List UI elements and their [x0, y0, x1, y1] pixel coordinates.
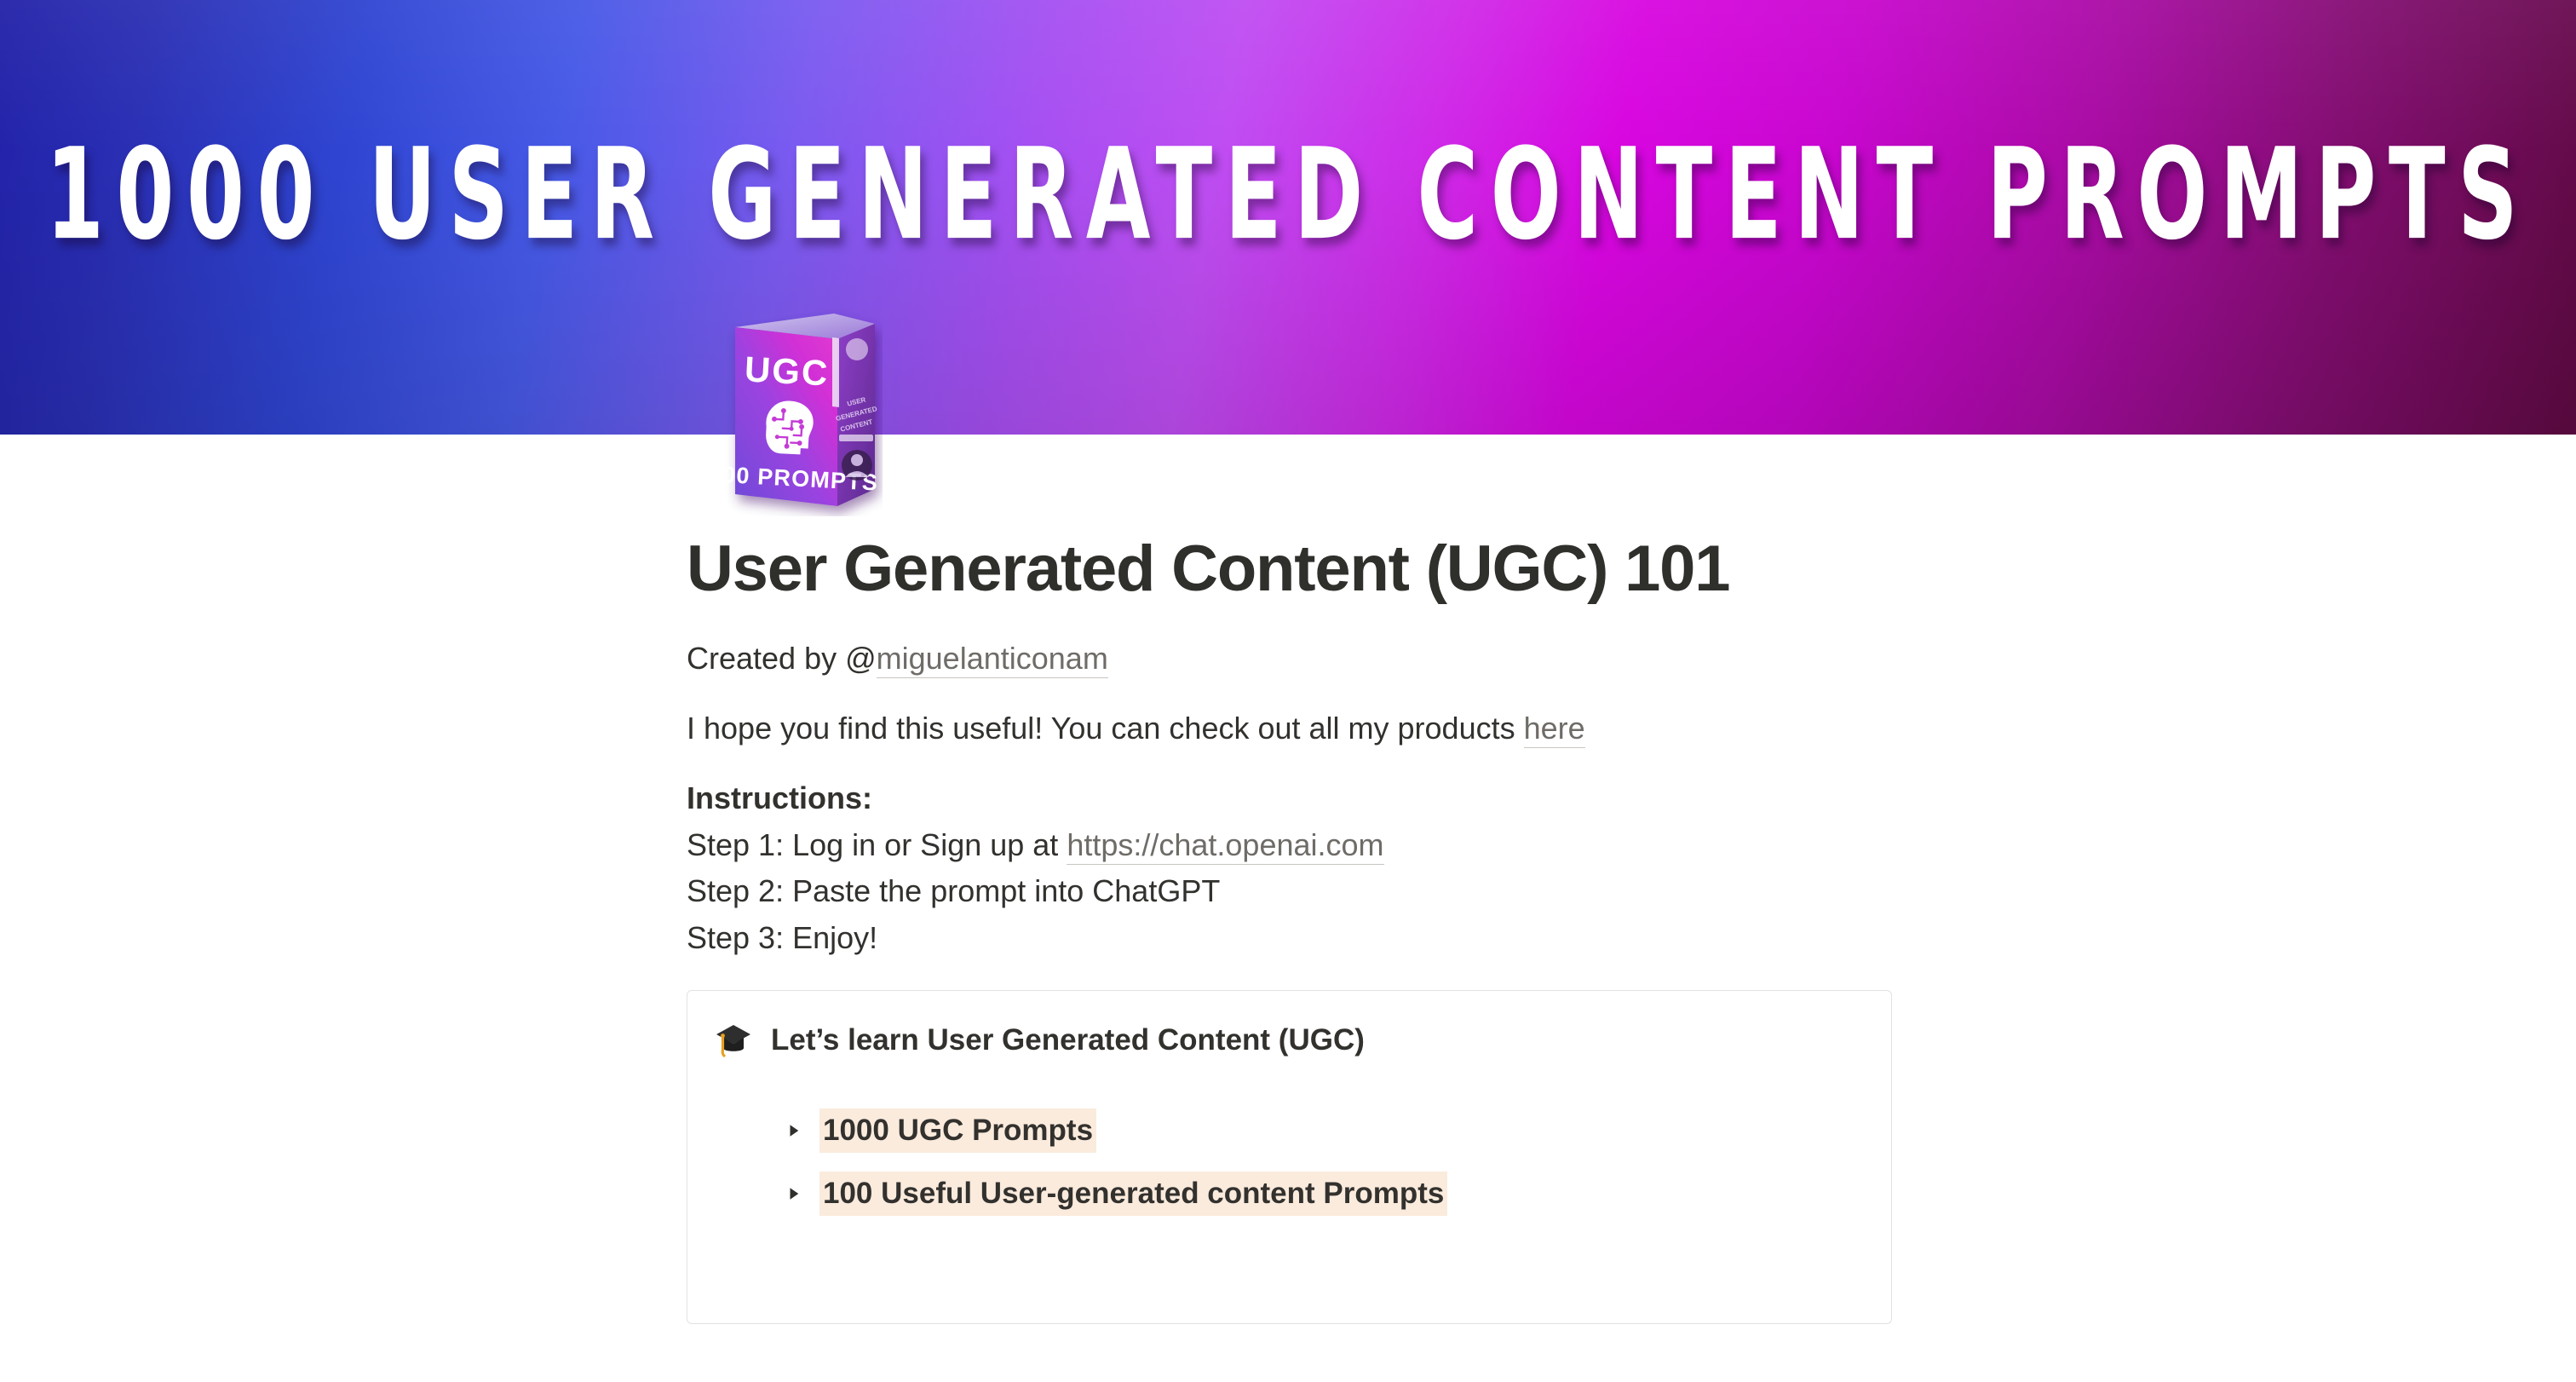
toggle-item-100-useful-prompts[interactable]: 100 Useful User-generated content Prompt…	[784, 1172, 1891, 1216]
products-here-link[interactable]: here	[1524, 711, 1585, 748]
graduation-cap-icon	[715, 1022, 752, 1059]
page-icon-ugc-box[interactable]: UGC 1000 PROMPTS USER GENERA	[725, 305, 883, 516]
instructions-label-text: Instructions:	[687, 780, 872, 815]
step-1-text: Step 1: Log in or Sign up at	[687, 827, 1067, 862]
card-heading-row: Let’s learn User Generated Content (UGC)	[687, 1022, 1891, 1059]
chatgpt-url-link[interactable]: https://chat.openai.com	[1067, 827, 1383, 865]
ugc-box-illustration: UGC 1000 PROMPTS USER GENERA	[725, 305, 883, 516]
cover-banner-title: 1000 USER GENERATED CONTENT PROMPTS	[38, 132, 2537, 258]
instructions-block: Instructions: Step 1: Log in or Sign up …	[687, 775, 2576, 962]
svg-text:UGC: UGC	[744, 348, 831, 393]
created-by-line: Created by @miguelanticonam	[687, 636, 2576, 682]
created-by-prefix: Created by @	[687, 641, 877, 676]
page-cover-banner[interactable]: 1000 USER GENERATED CONTENT PROMPTS	[0, 0, 2576, 435]
intro-text: I hope you find this useful! You can che…	[687, 711, 1524, 746]
chevron-right-icon[interactable]	[784, 1182, 804, 1206]
instructions-step-2: Step 2: Paste the prompt into ChatGPT	[687, 868, 2576, 915]
page-content: User Generated Content (UGC) 101 Created…	[0, 435, 2576, 1324]
chevron-right-icon[interactable]	[784, 1119, 804, 1143]
toggle-label[interactable]: 100 Useful User-generated content Prompt…	[819, 1172, 1447, 1216]
instructions-step-3: Step 3: Enjoy!	[687, 915, 2576, 962]
instructions-label: Instructions:	[687, 775, 2576, 822]
card-heading-text: Let’s learn User Generated Content (UGC)	[771, 1023, 1365, 1057]
toggle-label[interactable]: 1000 UGC Prompts	[819, 1108, 1096, 1153]
instructions-step-1: Step 1: Log in or Sign up at https://cha…	[687, 822, 2576, 869]
page-title: User Generated Content (UGC) 101	[687, 535, 2576, 603]
lets-learn-card: Let’s learn User Generated Content (UGC)…	[687, 990, 1892, 1324]
intro-line: I hope you find this useful! You can che…	[687, 705, 2576, 751]
author-handle-link[interactable]: miguelanticonam	[877, 641, 1108, 678]
toggle-list: 1000 UGC Prompts 100 Useful User-generat…	[687, 1108, 1891, 1216]
toggle-item-1000-ugc-prompts[interactable]: 1000 UGC Prompts	[784, 1108, 1891, 1153]
